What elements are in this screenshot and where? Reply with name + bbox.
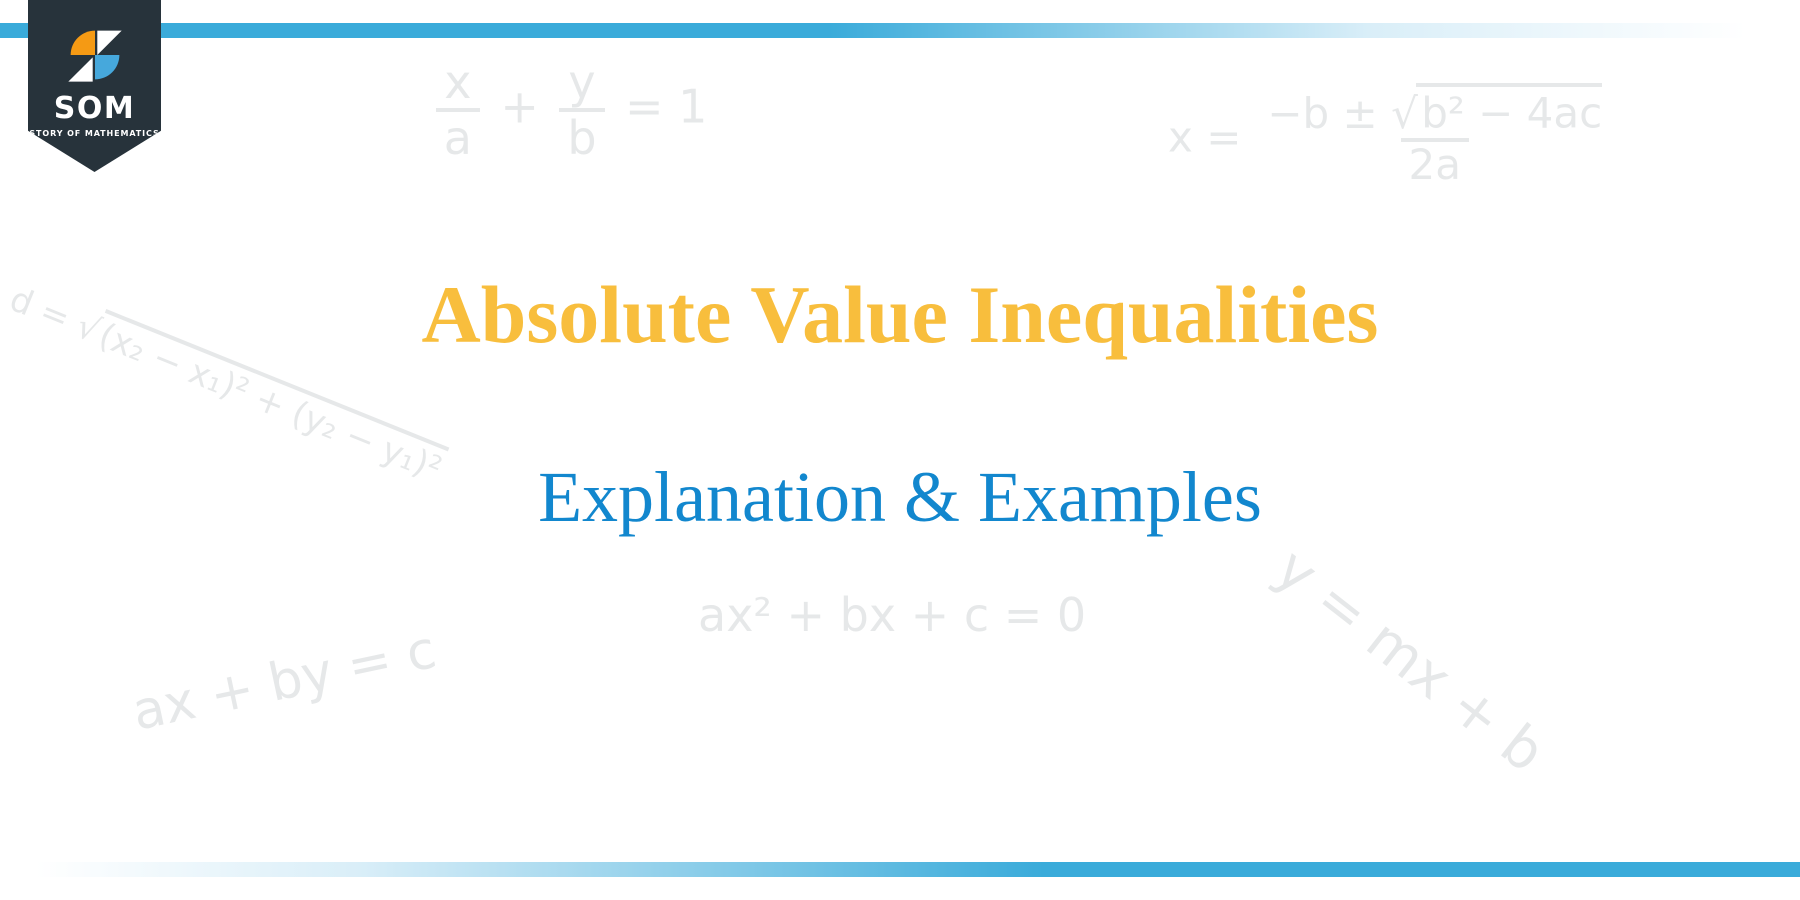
background-formula-linear-intercept: x a + y b = 1 [430, 58, 707, 162]
equals-one: = 1 [625, 80, 707, 134]
som-logo-badge[interactable]: SOM STORY OF MATHEMATICS [28, 0, 161, 172]
fraction-denominator: a [436, 108, 481, 162]
fraction-numerator: −b ± √b² − 4ac [1260, 92, 1610, 138]
background-formula-slope-intercept: y = mx + b [1266, 540, 1554, 782]
som-logo-mark-icon [66, 26, 124, 84]
fraction-x-over-a: x a [436, 58, 481, 162]
fraction-y-over-b: y b [559, 58, 605, 162]
quadratic-fraction: −b ± √b² − 4ac 2a [1260, 92, 1610, 188]
som-wordmark: SOM [54, 94, 135, 124]
plus-operator: + [500, 80, 539, 134]
page-title: Absolute Value Inequalities [0, 270, 1800, 360]
numerator-leading: −b ± [1267, 89, 1377, 138]
fraction-denominator: 2a [1401, 138, 1469, 188]
top-accent-bar [0, 23, 1800, 38]
fraction-denominator: b [559, 108, 605, 162]
fraction-numerator: x [436, 58, 480, 108]
background-formula-quadratic-standard: ax² + bx + c = 0 [698, 592, 1086, 638]
fraction-numerator: y [560, 58, 604, 108]
radical-icon: √ [1391, 89, 1418, 138]
som-tagline: STORY OF MATHEMATICS [29, 130, 159, 138]
bottom-accent-bar [0, 862, 1800, 877]
background-formula-standard-line: ax + by = c [128, 624, 440, 739]
background-formula-quadratic-formula: x = −b ± √b² − 4ac 2a [1168, 92, 1615, 188]
page-subtitle: Explanation & Examples [0, 458, 1800, 537]
radicand: b² − 4ac [1416, 83, 1602, 138]
formula-lhs: x = [1168, 112, 1241, 161]
